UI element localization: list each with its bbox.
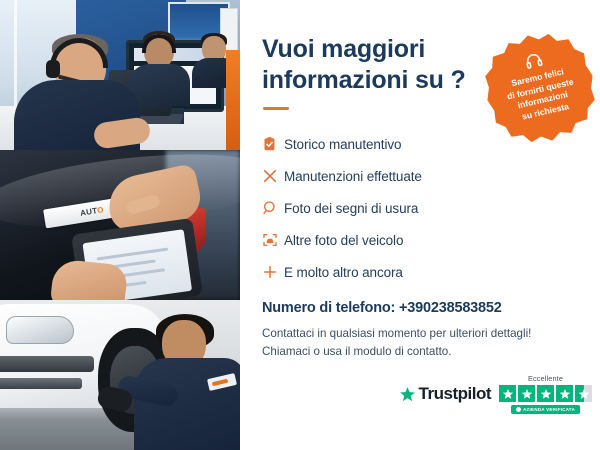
badge-text: Saremo felici di fornirti queste informa…	[495, 63, 589, 128]
sticker-text: AUTO	[80, 205, 105, 218]
rating-label: Eccellente	[528, 374, 563, 383]
list-item: Manutenzioni effettuate	[262, 162, 578, 190]
verified-badge: AZIENDA VERIFICATA	[511, 405, 580, 414]
photo-column: AUTO	[0, 0, 240, 450]
star-box	[499, 385, 516, 402]
car-headlight	[6, 316, 74, 344]
title-underline-rule	[263, 107, 289, 110]
trustpilot-star-icon	[399, 386, 416, 403]
feature-list: Storico manutentivo Manutenzioni effettu…	[262, 130, 578, 286]
verified-label: AZIENDA VERIFICATA	[523, 407, 575, 412]
star-box-partial	[575, 385, 592, 402]
clipboard-check-icon	[262, 136, 284, 152]
headset-icon	[522, 50, 546, 72]
trustpilot-rating[interactable]: Trustpilot Eccellente	[399, 374, 592, 414]
headline-line-2: informazioni su ?	[262, 66, 466, 94]
plus-icon	[262, 264, 284, 280]
sticker-on-car-photo: AUTO	[0, 150, 240, 300]
feature-label: Storico manutentivo	[284, 137, 401, 152]
headline-line-1: Vuoi maggiori	[262, 35, 425, 63]
car-grille-upper	[0, 356, 94, 372]
contact-line-1: Contattaci in qualsiasi momento per ulte…	[262, 325, 578, 343]
mechanic-person	[134, 320, 240, 450]
phone-number[interactable]: +390238583852	[399, 300, 502, 316]
contact-instructions: Contattaci in qualsiasi momento per ulte…	[262, 325, 578, 361]
check-icon	[516, 407, 521, 412]
list-item: Foto dei segni di usura	[262, 194, 578, 222]
page-title: Vuoi maggiori informazioni su ?	[262, 34, 472, 95]
list-item: E molto altro ancora	[262, 258, 578, 286]
tools-cross-icon	[262, 168, 284, 184]
contact-info-banner: AUTO	[0, 0, 600, 450]
star-box	[537, 385, 554, 402]
trustpilot-logo: Trustpilot	[399, 384, 491, 404]
feature-label: Foto dei segni di usura	[284, 201, 418, 216]
phone-label: Numero di telefono:	[262, 300, 395, 316]
mechanic-wheel-photo	[0, 300, 240, 450]
feature-label: Manutenzioni effettuate	[284, 169, 422, 184]
trustpilot-wordmark: Trustpilot	[419, 384, 491, 404]
star-box	[518, 385, 535, 402]
orange-accent-strip	[226, 50, 240, 150]
agent-foreground	[14, 38, 140, 150]
list-item: Altre foto del veicolo	[262, 226, 578, 254]
content-panel: Vuoi maggiori informazioni su ? Saremo f…	[240, 0, 600, 450]
photo-frame-car-icon	[262, 232, 284, 248]
star-box	[556, 385, 573, 402]
feature-label: Altre foto del veicolo	[284, 233, 403, 248]
contact-line-2: Chiamaci o usa il modulo di contatto.	[262, 343, 578, 361]
car-grille-lower	[0, 378, 82, 389]
feature-label: E molto altro ancora	[284, 265, 403, 280]
star-rating	[499, 385, 592, 402]
phone-line: Numero di telefono: +390238583852	[262, 300, 578, 316]
call-center-agents-photo	[0, 0, 240, 150]
magnifier-icon	[262, 200, 284, 216]
